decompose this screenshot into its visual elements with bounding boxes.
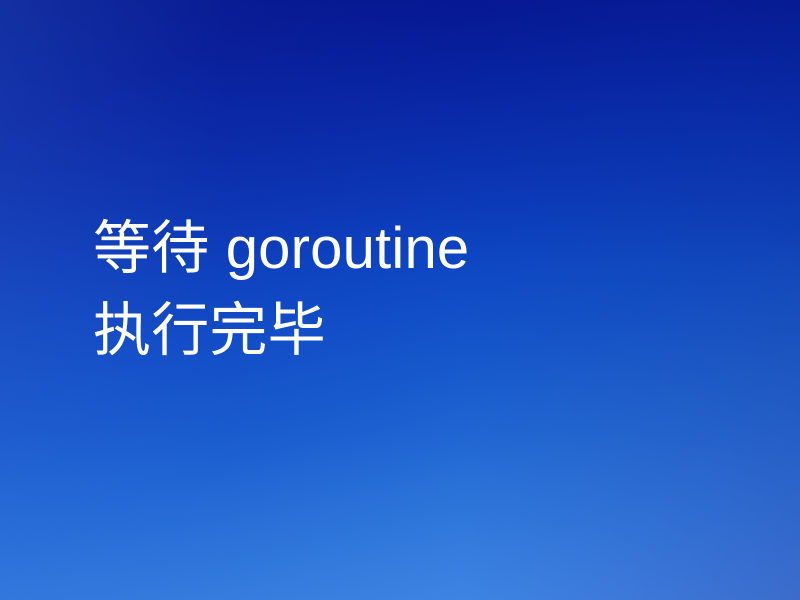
slide-content-area: 等待 goroutine 执行完毕 <box>0 0 800 600</box>
headline-line-1: 等待 goroutine <box>93 208 469 290</box>
headline-line-2: 执行完毕 <box>93 290 469 372</box>
slide-canvas: 等待 goroutine 执行完毕 <box>0 0 800 600</box>
slide-headline: 等待 goroutine 执行完毕 <box>93 208 469 373</box>
